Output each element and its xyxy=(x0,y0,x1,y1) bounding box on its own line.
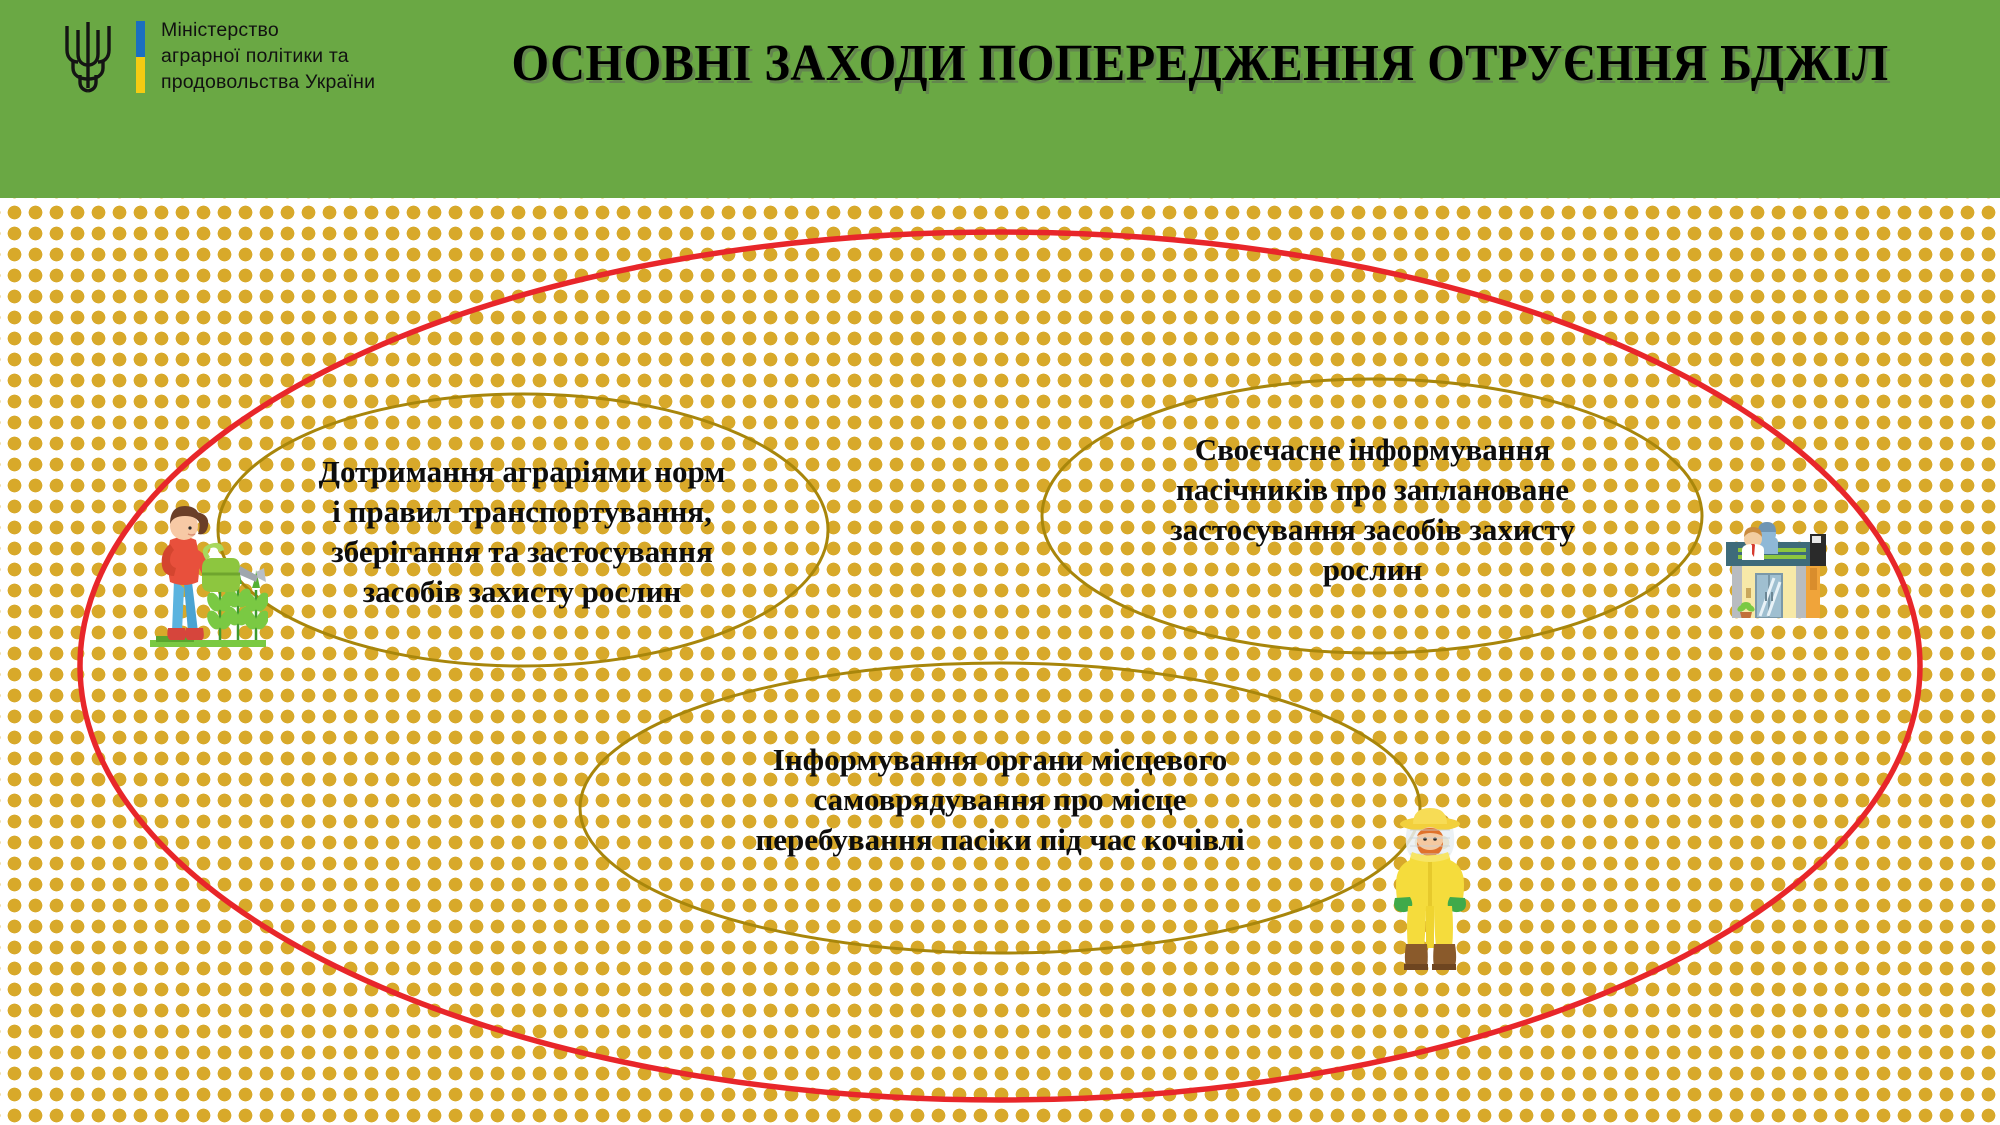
office-building-with-people-icon xyxy=(1718,508,1830,618)
measure-2-text: Своєчасне інформування пасічників про за… xyxy=(1120,430,1625,590)
farmer-watering-plants-icon xyxy=(148,492,268,652)
measure-1-text: Дотримання аграріями норм і правил транс… xyxy=(262,452,782,612)
ministry-name-label: Міністерство аграрної політики та продов… xyxy=(161,18,375,96)
header-band: Міністерство аграрної політики та продов… xyxy=(0,0,2000,198)
measure-3-text: Інформування органи місцевого самоврядув… xyxy=(690,740,1310,860)
slide-canvas: Міністерство аграрної політики та продов… xyxy=(0,0,2000,1125)
ukraine-trident-icon xyxy=(62,20,114,94)
ministry-logo: Міністерство аграрної політики та продов… xyxy=(62,18,375,96)
beekeeper-in-protective-suit-icon xyxy=(1382,800,1478,975)
ukraine-flag-bar-icon xyxy=(136,21,145,93)
dotted-background xyxy=(0,198,2000,1125)
page-title: ОСНОВНІ ЗАХОДИ ПОПЕРЕДЖЕННЯ ОТРУЄННЯ БДЖ… xyxy=(484,38,1916,90)
